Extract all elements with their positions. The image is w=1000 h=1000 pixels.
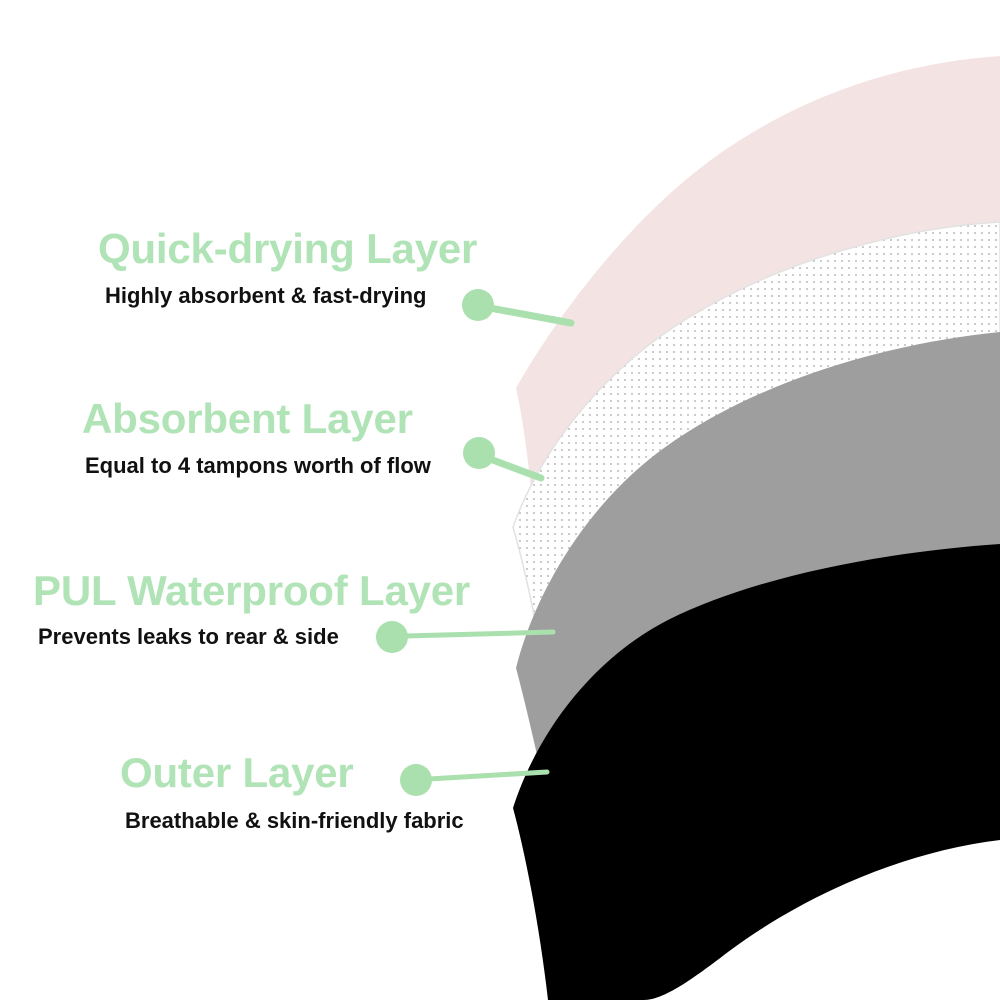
label-group-outer: Outer Layer Breathable & skin-friendly f… (120, 752, 464, 832)
layer-stack-illustration (0, 0, 1000, 1000)
layer-title-outer: Outer Layer (120, 752, 464, 794)
infographic-canvas: Quick-drying Layer Highly absorbent & fa… (0, 0, 1000, 1000)
layer-subtitle-quick-drying: Highly absorbent & fast-drying (105, 285, 477, 307)
layer-title-absorbent: Absorbent Layer (82, 398, 431, 440)
leader-line-quick-drying (490, 308, 571, 323)
leader-dot-absorbent (463, 437, 495, 469)
layer-title-quick-drying: Quick-drying Layer (98, 228, 477, 270)
layer-subtitle-pul-waterproof: Prevents leaks to rear & side (38, 626, 470, 648)
layer-subtitle-absorbent: Equal to 4 tampons worth of flow (85, 455, 431, 477)
label-group-quick-drying: Quick-drying Layer Highly absorbent & fa… (98, 228, 477, 307)
label-group-absorbent: Absorbent Layer Equal to 4 tampons worth… (82, 398, 431, 477)
label-group-pul-waterproof: PUL Waterproof Layer Prevents leaks to r… (33, 570, 470, 648)
layer-subtitle-outer: Breathable & skin-friendly fabric (125, 810, 464, 832)
layer-title-pul-waterproof: PUL Waterproof Layer (33, 570, 470, 612)
